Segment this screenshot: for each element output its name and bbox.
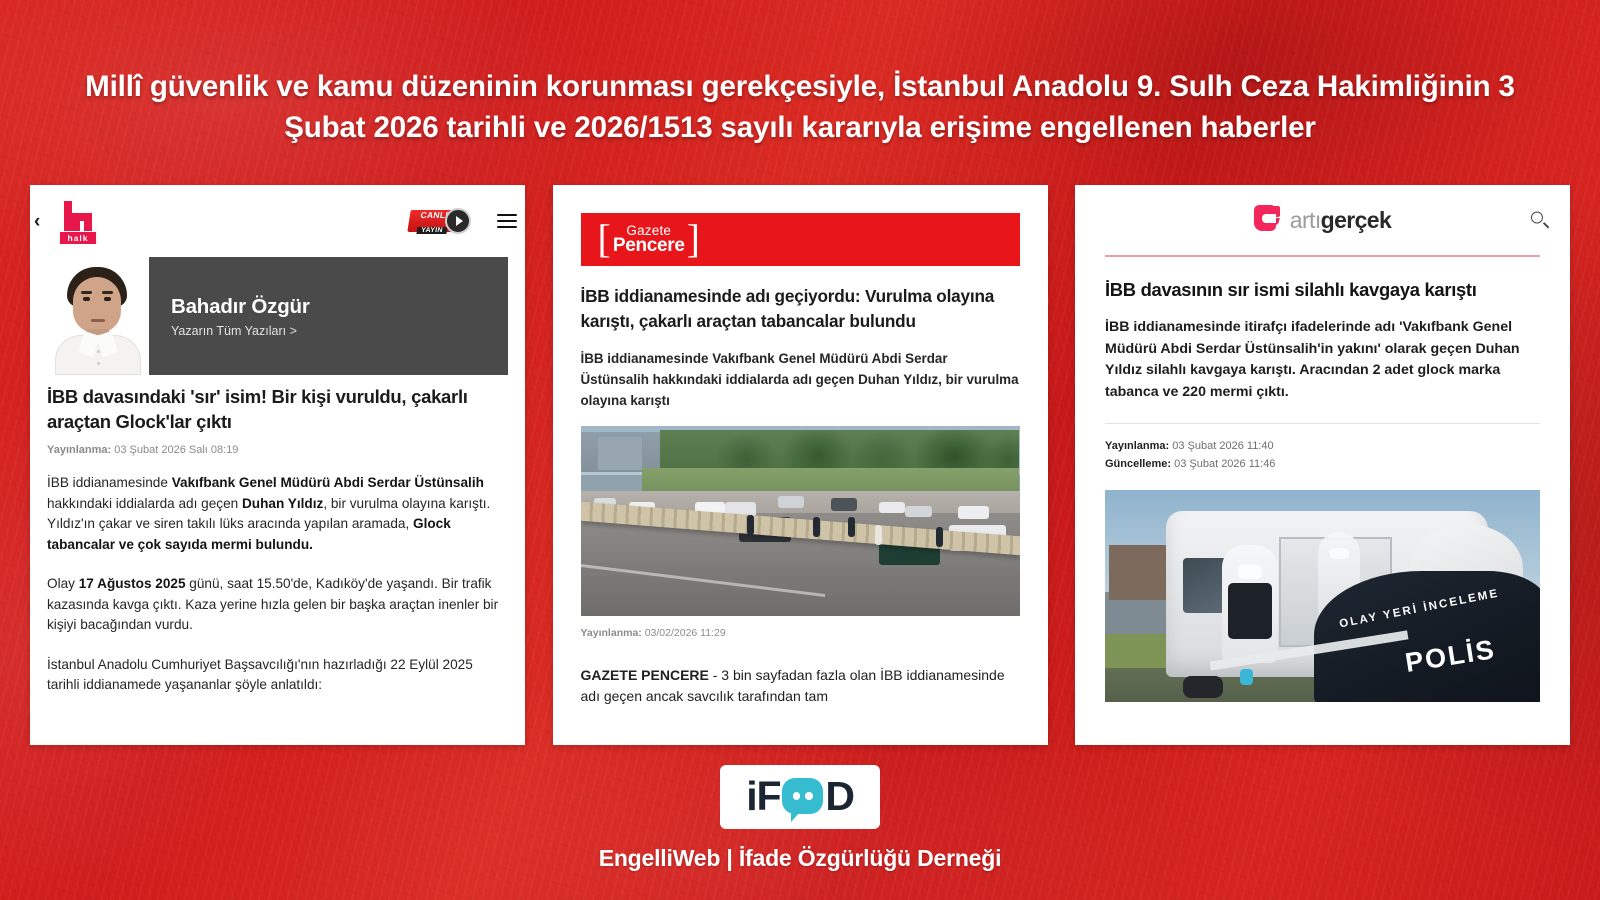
updated-row: Güncelleme: 03 Şubat 2026 11:46 bbox=[1105, 455, 1540, 473]
page-title: Millî güvenlik ve kamu düzeninin korunma… bbox=[50, 66, 1550, 148]
lead-source-name: GAZETE PENCERE bbox=[581, 667, 709, 683]
footer: iF D EngelliWeb | İfade Özgürlüğü Derneğ… bbox=[0, 765, 1600, 872]
updated-value: 03 Şubat 2026 11:46 bbox=[1174, 458, 1275, 470]
published-label: Yayınlanma: bbox=[1105, 440, 1169, 452]
publish-value: 03 Şubat 2026 Salı 08:19 bbox=[114, 444, 238, 456]
bracket-left: [ bbox=[598, 222, 611, 256]
news-card-gazete-pencere: [ Gazete Pencere ] İBB iddianamesinde ad… bbox=[553, 185, 1048, 745]
author-all-articles-link[interactable]: Yazarın Tüm Yazıları > bbox=[171, 324, 508, 338]
logo-word-arti: artı bbox=[1290, 207, 1321, 233]
article-paragraph-1: İBB iddianamesinde Vakıfbank Genel Müdür… bbox=[47, 473, 508, 555]
article-publish-date: Yayınlanma: 03/02/2026 11:29 bbox=[581, 627, 1020, 639]
published-row: Yayınlanma: 03 Şubat 2026 11:40 bbox=[1105, 437, 1540, 455]
article-photo-highway-incident bbox=[581, 426, 1020, 616]
publish-label: Yayınlanma: bbox=[47, 444, 111, 456]
footer-organization-name: EngelliWeb | İfade Özgürlüğü Derneği bbox=[0, 845, 1600, 872]
author-avatar bbox=[47, 257, 149, 375]
news-card-halk-tv: ‹ halk CANLI YAYIN bbox=[30, 185, 525, 745]
screenshot-cards-row: ‹ halk CANLI YAYIN bbox=[30, 185, 1570, 745]
logo-line-pencere: Pencere bbox=[613, 236, 685, 255]
author-info: Bahadır Özgür Yazarın Tüm Yazıları > bbox=[149, 257, 508, 375]
p1-part2: hakkındaki iddialarda adı geçen bbox=[47, 496, 242, 511]
bracket-right: ] bbox=[687, 222, 700, 256]
publish-label: Yayınlanma: bbox=[581, 627, 642, 639]
article-subtitle: İBB iddianamesinde Vakıfbank Genel Müdür… bbox=[581, 348, 1020, 411]
author-name: Bahadır Özgür bbox=[171, 295, 508, 319]
published-value: 03 Şubat 2026 11:40 bbox=[1172, 440, 1273, 452]
page-root: Millî güvenlik ve kamu düzeninin korunma… bbox=[0, 0, 1600, 900]
ifod-logo: iF D bbox=[720, 765, 879, 829]
publish-value: 03/02/2026 11:29 bbox=[645, 627, 726, 639]
search-icon[interactable] bbox=[1531, 212, 1548, 229]
news-card-arti-gercek: artıgerçek İBB davasının sır ismi silahl… bbox=[1075, 185, 1570, 745]
halk-wordmark: halk bbox=[60, 232, 96, 244]
article-meta: Yayınlanma: 03 Şubat 2026 11:40 Güncelle… bbox=[1105, 437, 1540, 473]
meta-divider bbox=[1105, 423, 1540, 424]
p2-bold1: 17 Ağustos 2025 bbox=[79, 576, 186, 591]
header-divider bbox=[1105, 255, 1540, 257]
speech-bubble-icon bbox=[782, 778, 823, 814]
back-chevron-icon[interactable]: ‹ bbox=[34, 212, 56, 231]
article-photo-forensic-police: OLAY YERİ İNCELEME POLİS bbox=[1105, 490, 1540, 702]
p1-part1: İBB iddianamesinde bbox=[47, 475, 172, 490]
live-badge-line2: YAYIN bbox=[417, 227, 448, 234]
halk-tv-logo[interactable]: halk bbox=[58, 198, 98, 244]
hamburger-menu-icon[interactable] bbox=[497, 210, 517, 232]
updated-label: Güncelleme: bbox=[1105, 458, 1171, 470]
article-body: İBB iddianamesinde Vakıfbank Genel Müdür… bbox=[47, 473, 508, 696]
gazete-pencere-logo[interactable]: [ Gazete Pencere ] bbox=[598, 222, 701, 256]
canli-yayin-live-badge[interactable]: CANLI YAYIN bbox=[409, 208, 471, 234]
article-publish-date: Yayınlanma: 03 Şubat 2026 Salı 08:19 bbox=[47, 444, 508, 456]
ifod-logo-right: D bbox=[825, 776, 853, 817]
ifod-logo-left: iF bbox=[746, 776, 780, 817]
article-paragraph-2: Olay 17 Ağustos 2025 günü, saat 15.50'de… bbox=[47, 574, 508, 636]
p1-bold2: Duhan Yıldız bbox=[242, 496, 323, 511]
article-title: İBB davasının sır ismi silahlı kavgaya k… bbox=[1105, 277, 1540, 303]
article-paragraph-3: İstanbul Anadolu Cumhuriyet Başsavcılığı… bbox=[47, 655, 508, 696]
p1-bold1: Vakıfbank Genel Müdürü Abdi Serdar Üstün… bbox=[172, 475, 484, 490]
article-title: İBB davasındaki 'sır' isim! Bir kişi vur… bbox=[47, 384, 508, 434]
article-title: İBB iddianamesinde adı geçiyordu: Vurulm… bbox=[581, 284, 1020, 333]
p2-part1: Olay bbox=[47, 576, 79, 591]
halk-h-glyph bbox=[64, 201, 92, 231]
arti-gercek-mark-icon bbox=[1254, 205, 1281, 235]
article-lead: İBB iddianamesinde itirafçı ifadelerinde… bbox=[1105, 317, 1540, 403]
gazete-pencere-header: [ Gazete Pencere ] bbox=[581, 213, 1020, 266]
arti-gercek-logo[interactable]: artıgerçek bbox=[1254, 205, 1391, 235]
logo-word-gercek: gerçek bbox=[1321, 207, 1392, 233]
play-icon[interactable] bbox=[445, 208, 471, 234]
author-banner: Bahadır Özgür Yazarın Tüm Yazıları > bbox=[47, 257, 508, 375]
arti-gercek-header: artıgerçek bbox=[1075, 185, 1570, 255]
halk-navbar: ‹ halk CANLI YAYIN bbox=[30, 185, 525, 257]
article-lead: GAZETE PENCERE - 3 bin sayfadan fazla ol… bbox=[581, 665, 1020, 707]
